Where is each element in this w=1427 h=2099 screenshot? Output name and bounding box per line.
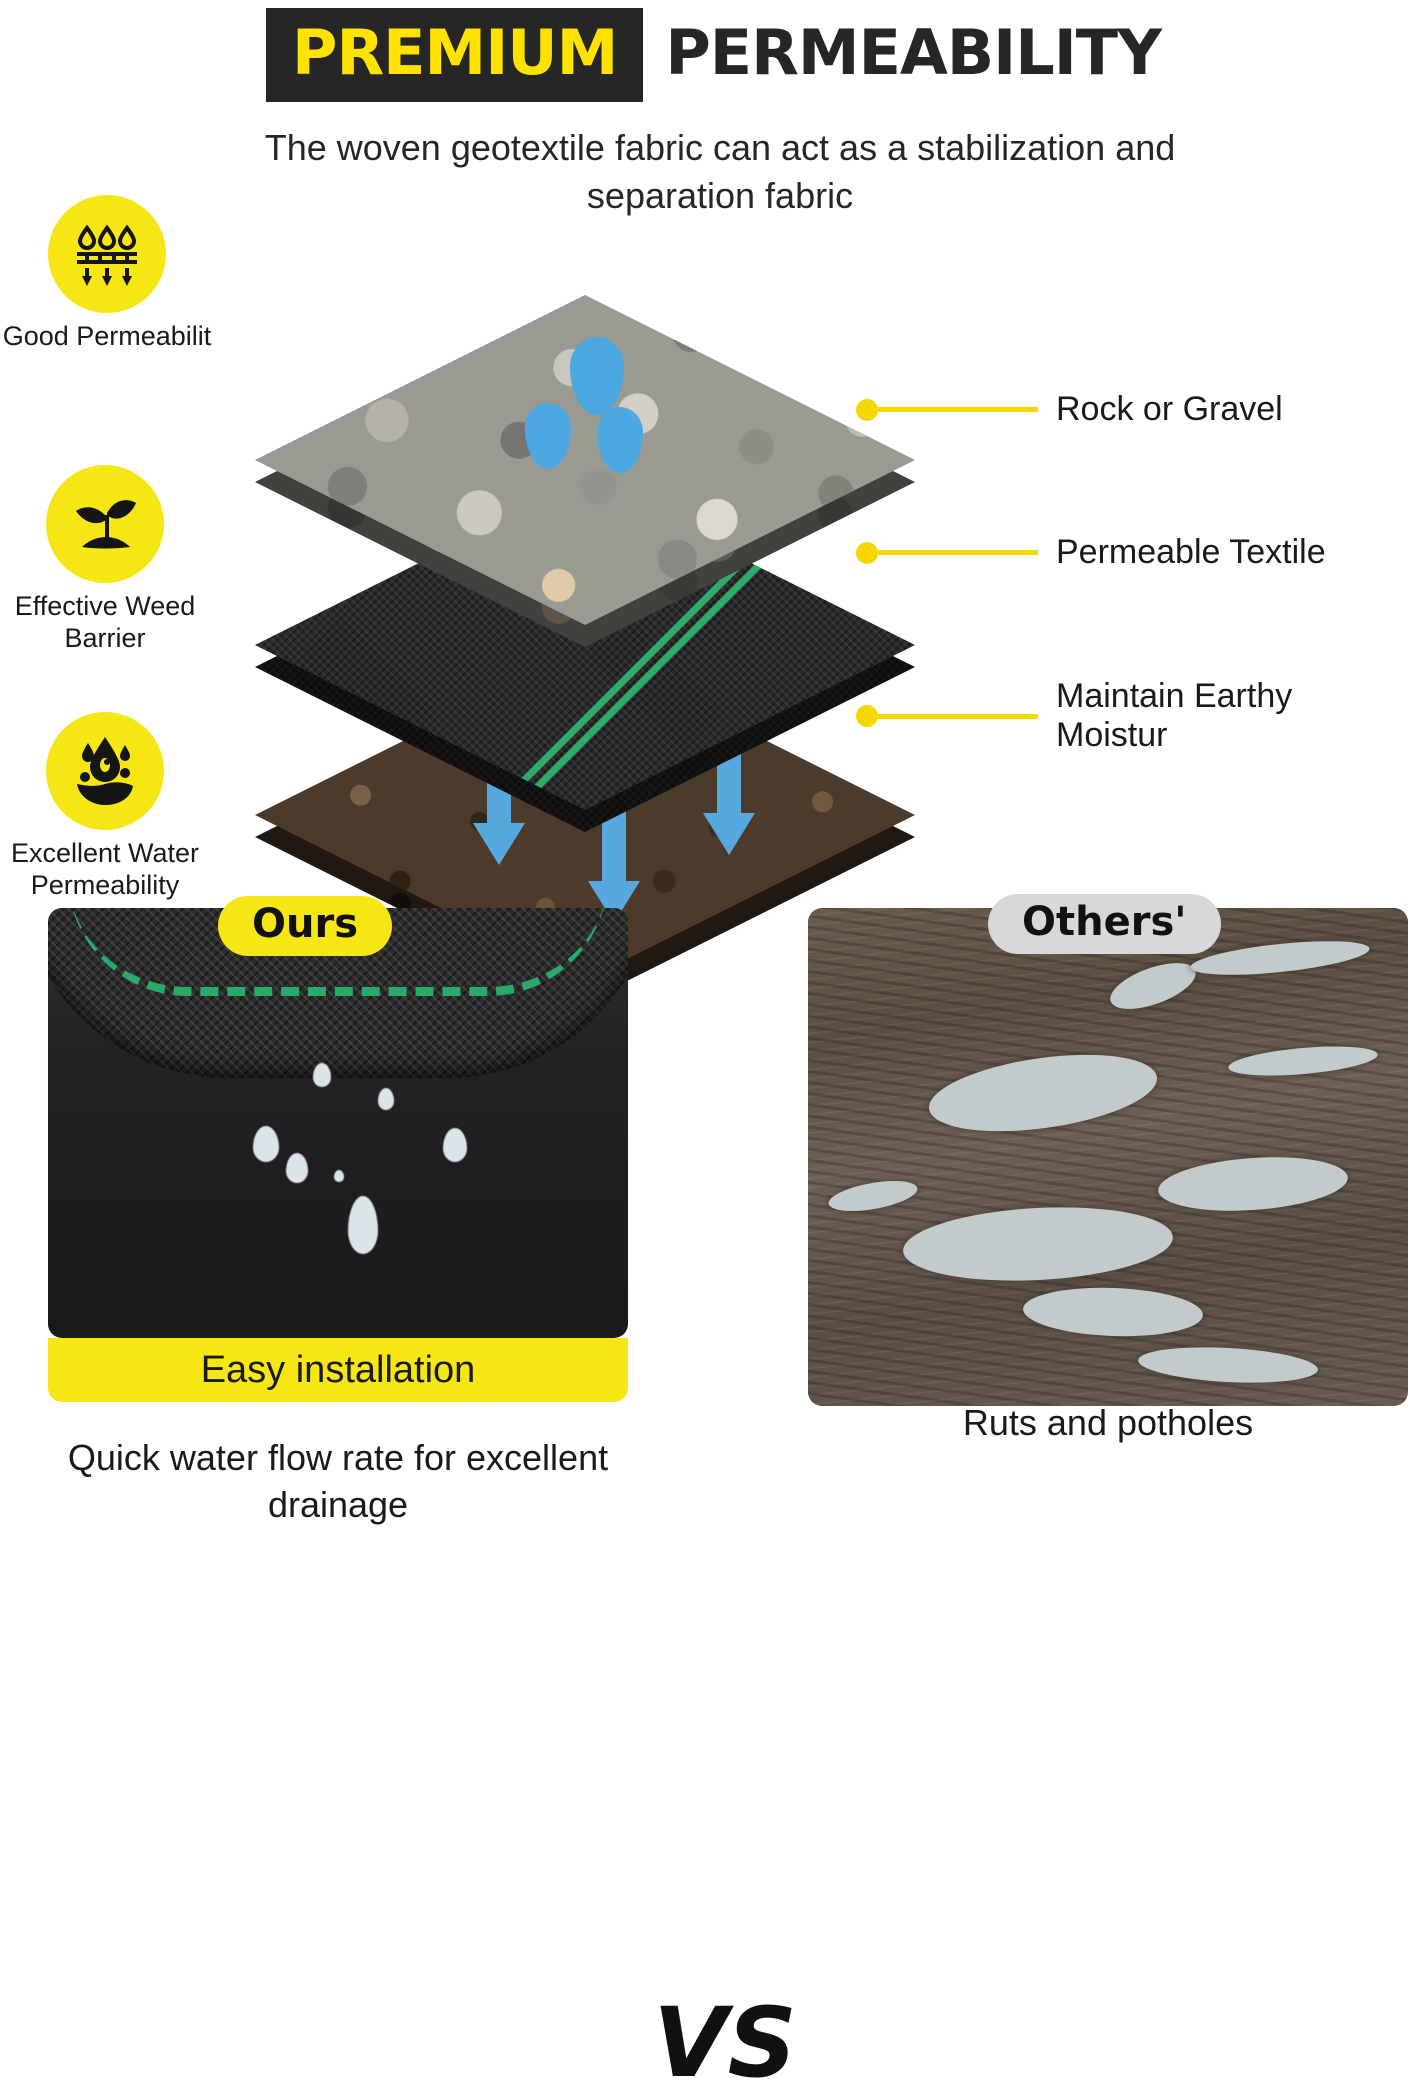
callout-dot [856,542,878,564]
callout-dot [856,705,878,727]
ours-photo [48,908,628,1338]
callout-rock-or-gravel: Rock or Gravel [856,390,1283,429]
water-droplet [313,1063,331,1087]
feature-excellent-water-permeability: Excellent Water Permeability [0,712,220,902]
sprout-weed-barrier-icon [46,465,164,583]
comparison-section: Ours Easy installation Quick water flow … [0,890,1427,1500]
water-droplet [378,1088,394,1110]
feature-label: Good Permeabilit [0,321,222,353]
feature-good-permeability: Good Permeabilit [0,195,222,353]
callout-dot [856,399,878,421]
callout-label: Rock or Gravel [1056,390,1283,429]
water-permeability-icon [48,195,166,313]
water-droplet [443,1128,467,1162]
others-photo [808,908,1408,1406]
gravel-layer-face [255,295,915,625]
ours-badge: Ours [218,896,392,956]
water-droplet [334,1170,344,1182]
callout-leader-line [878,407,1038,412]
water-drop-icon [570,337,624,415]
ours-caption-bar: Easy installation [48,1338,628,1402]
falling-water-droplet [348,1196,378,1254]
callout-leader-line [878,714,1038,719]
feature-weed-barrier: Effective Weed Barrier [0,465,220,655]
ours-under-caption: Quick water flow rate for excellent drai… [28,1435,648,1529]
gravel-layer [255,295,915,625]
water-drop-basin-icon [46,712,164,830]
callout-label: Maintain Earthy Moistur [1056,677,1292,756]
vs-label: VS [640,1995,810,2091]
others-under-caption: Ruts and potholes [808,1400,1408,1447]
feature-label: Effective Weed Barrier [0,591,220,655]
others-badge: Others' [988,894,1221,954]
premium-highlight-box: PREMIUM [266,8,643,102]
subtitle-text: The woven geotextile fabric can act as a… [180,124,1260,219]
callout-maintain-earthy-moisture: Maintain Earthy Moistur [856,677,1292,756]
water-drop-icon [525,403,571,469]
water-droplet [286,1153,308,1183]
callout-label: Permeable Textile [1056,533,1326,572]
callout-leader-line [878,550,1038,555]
callout-permeable-textile: Permeable Textile [856,533,1326,572]
page-header: PREMIUM PERMEABILITY [0,0,1427,110]
water-drop-icon [597,407,643,473]
water-droplet [253,1126,279,1162]
layer-diagram [255,265,975,915]
permeability-title: PERMEABILITY [643,8,1161,102]
